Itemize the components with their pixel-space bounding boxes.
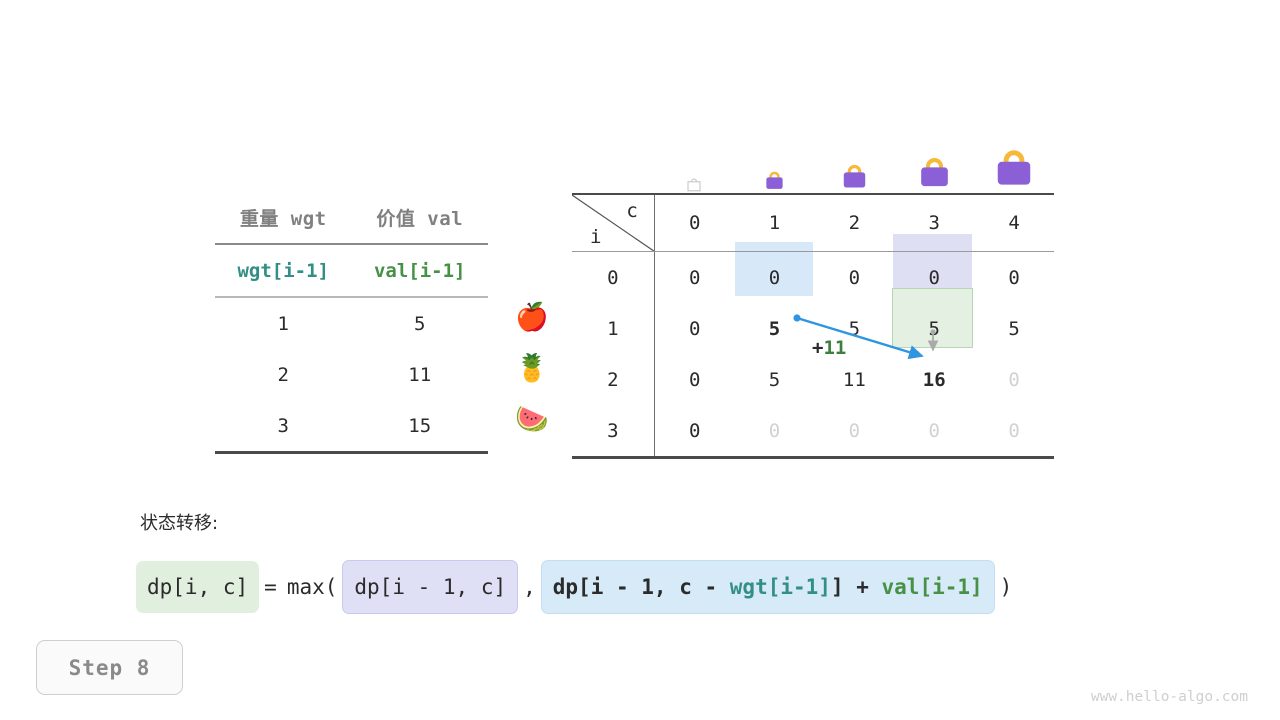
- dp-cell-1-3: 5: [894, 303, 974, 354]
- watermark: www.hello-algo.com: [1091, 689, 1248, 705]
- item-wgt-2: 2: [215, 349, 352, 400]
- dp-row-index-2: 2: [572, 354, 654, 405]
- formula-take-mid: ] +: [831, 575, 882, 599]
- dp-cell-3-2: 0: [814, 405, 894, 458]
- items-row-2: 2 11: [215, 349, 488, 400]
- items-header-val: 价值 val: [352, 192, 489, 244]
- dp-corner-row-label: i: [590, 226, 601, 248]
- items-row-1: 1 5: [215, 297, 488, 349]
- dp-cell-3-0: 0: [654, 405, 734, 458]
- dp-cell-3-1: 0: [735, 405, 815, 458]
- fruit-icon-column: 🍎 🍍 🍉: [497, 292, 567, 445]
- value-increment-annotation: +11: [812, 337, 846, 359]
- apple-icon: 🍎: [497, 292, 567, 343]
- formula-term-take: dp[i - 1, c - wgt[i-1]] + val[i-1]: [541, 560, 995, 614]
- item-val-3: 15: [352, 400, 489, 453]
- dp-corner-col-label: c: [626, 200, 637, 222]
- items-table-grid: 重量 wgt 价值 val wgt[i-1] val[i-1] 1 5 2 11…: [215, 192, 488, 454]
- dp-cell-0-3: 0: [894, 252, 974, 304]
- dp-table: c i 0 1 2 3 4 0 0 0 0 0 0 1 0 5: [572, 131, 1054, 446]
- dp-cell-0-1: 0: [735, 252, 815, 304]
- dp-cell-3-3: 0: [894, 405, 974, 458]
- items-subheader-wgt: wgt[i-1]: [215, 244, 352, 297]
- dp-row-2: 2 0 5 11 16 0: [572, 354, 1054, 405]
- dp-cell-2-0: 0: [654, 354, 734, 405]
- items-header-wgt: 重量 wgt: [215, 192, 352, 244]
- dp-capacity-header-2: 2: [814, 194, 894, 252]
- dp-row-index-3: 3: [572, 405, 654, 458]
- bag-1-icon: [734, 168, 814, 193]
- dp-row-0: 0 0 0 0 0 0: [572, 252, 1054, 304]
- dp-cell-0-0: 0: [654, 252, 734, 304]
- item-val-1: 5: [352, 297, 489, 349]
- bag-empty-icon: [654, 174, 734, 193]
- formula-take-wgt: wgt[i-1]: [730, 575, 831, 599]
- dp-cell-1-1: 5: [735, 303, 815, 354]
- dp-row-index-1: 1: [572, 303, 654, 354]
- dp-capacity-header-0: 0: [654, 194, 734, 252]
- item-wgt-1: 1: [215, 297, 352, 349]
- dp-cell-2-1: 5: [735, 354, 815, 405]
- increment-value: 11: [823, 337, 846, 359]
- bag-2-icon: [814, 160, 894, 193]
- bag-4-icon: [974, 143, 1054, 193]
- item-wgt-3: 3: [215, 400, 352, 453]
- dp-corner-cell: c i: [572, 194, 654, 252]
- dp-capacity-header-4: 4: [974, 194, 1054, 252]
- transition-formula: dp[i, c]=max(dp[i - 1, c],dp[i - 1, c - …: [136, 560, 1017, 614]
- dp-capacity-header-3: 3: [894, 194, 974, 252]
- bag-icon-row: [572, 131, 1054, 193]
- dp-cell-2-3: 16: [894, 354, 974, 405]
- dp-row-3: 3 0 0 0 0 0: [572, 405, 1054, 458]
- formula-lhs: dp[i, c]: [136, 561, 259, 613]
- dp-cell-1-4: 5: [974, 303, 1054, 354]
- items-table: 重量 wgt 价值 val wgt[i-1] val[i-1] 1 5 2 11…: [215, 192, 488, 454]
- dp-capacity-header-1: 1: [735, 194, 815, 252]
- formula-max: max(: [282, 575, 343, 599]
- item-val-2: 11: [352, 349, 489, 400]
- bag-3-icon: [894, 152, 974, 193]
- transition-label: 状态转移:: [140, 509, 218, 535]
- pineapple-icon: 🍍: [497, 343, 567, 394]
- formula-take-prefix: dp[i - 1, c -: [553, 575, 730, 599]
- formula-close-paren: ): [995, 575, 1018, 599]
- items-row-3: 3 15: [215, 400, 488, 453]
- step-badge: Step 8: [36, 640, 183, 695]
- dp-cell-2-2: 11: [814, 354, 894, 405]
- dp-cell-0-2: 0: [814, 252, 894, 304]
- formula-equals: =: [259, 575, 282, 599]
- dp-grid-table: c i 0 1 2 3 4 0 0 0 0 0 0 1 0 5: [572, 193, 1054, 459]
- dp-cell-0-4: 0: [974, 252, 1054, 304]
- watermelon-icon: 🍉: [497, 394, 567, 445]
- increment-sign: +: [812, 337, 823, 359]
- dp-grid: c i 0 1 2 3 4 0 0 0 0 0 0 1 0 5: [572, 193, 1054, 459]
- items-subheader-val: val[i-1]: [352, 244, 489, 297]
- formula-term-skip: dp[i - 1, c]: [342, 560, 518, 614]
- dp-cell-2-4: 0: [974, 354, 1054, 405]
- dp-cell-3-4: 0: [974, 405, 1054, 458]
- formula-take-val: val[i-1]: [882, 575, 983, 599]
- formula-comma: ,: [518, 575, 541, 599]
- dp-header-row: c i 0 1 2 3 4: [572, 194, 1054, 252]
- dp-row-index-0: 0: [572, 252, 654, 304]
- items-table-header-row: 重量 wgt 价值 val: [215, 192, 488, 244]
- dp-cell-1-0: 0: [654, 303, 734, 354]
- items-table-subheader-row: wgt[i-1] val[i-1]: [215, 244, 488, 297]
